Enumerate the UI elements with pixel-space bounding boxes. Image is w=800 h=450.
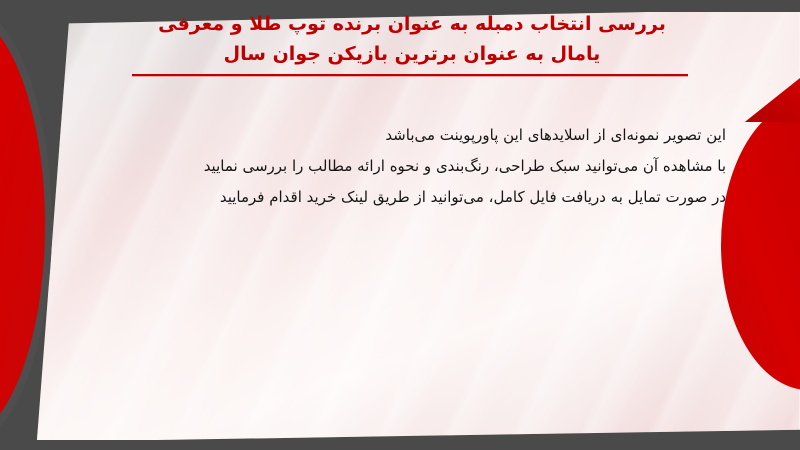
body-line-2: با مشاهده آن می‌توانید سبک طراحی، رنگ‌بن… bbox=[76, 151, 726, 182]
title-line-1: بررسی انتخاب دمبله به عنوان برنده توپ طل… bbox=[82, 9, 742, 39]
title-underline-divider bbox=[132, 74, 688, 77]
title-line-2: یامال به عنوان برترین بازیکن جوان سال bbox=[82, 39, 742, 69]
slide-body-text: این تصویر نمونه‌ای از اسلایدهای این پاور… bbox=[76, 120, 726, 213]
body-line-3: در صورت تمایل به دریافت فایل کامل، می‌تو… bbox=[76, 182, 726, 213]
body-line-1: این تصویر نمونه‌ای از اسلایدهای این پاور… bbox=[76, 120, 726, 151]
bottom-dark-band bbox=[0, 440, 800, 450]
slide-title: بررسی انتخاب دمبله به عنوان برنده توپ طل… bbox=[82, 9, 742, 69]
presentation-slide: بررسی انتخاب دمبله به عنوان برنده توپ طل… bbox=[0, 0, 800, 450]
